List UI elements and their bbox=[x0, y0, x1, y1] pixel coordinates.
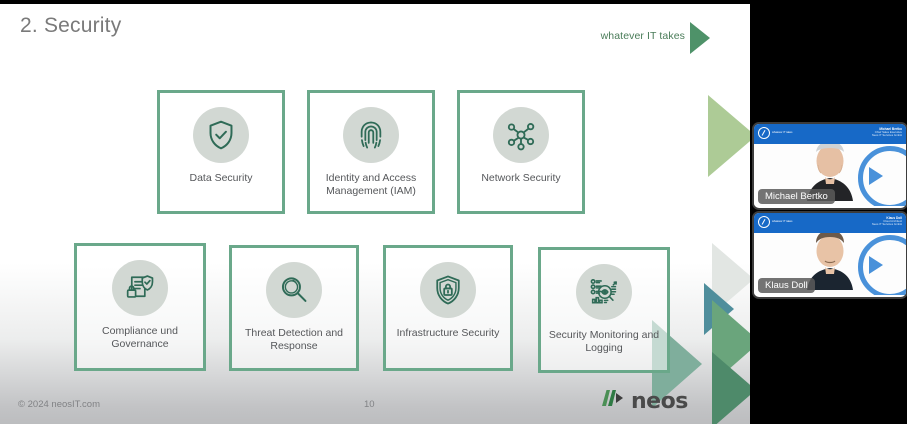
card-label: Identity and Access Management (IAM) bbox=[310, 172, 432, 198]
card-data-security: Data Security bbox=[157, 90, 285, 214]
decorative-chevron-icon bbox=[708, 95, 750, 177]
decorative-chevron-icon bbox=[712, 352, 750, 424]
icon-bubble bbox=[112, 260, 168, 316]
page-title: 2. Security bbox=[20, 14, 121, 38]
presentation-slide: 2. Security whatever IT takes Data Secur… bbox=[0, 0, 750, 424]
icon-bubble bbox=[266, 262, 322, 318]
card-label: Threat Detection and Response bbox=[232, 327, 356, 353]
icon-bubble bbox=[343, 107, 399, 163]
card-identity-access-management: Identity and Access Management (IAM) bbox=[307, 90, 435, 214]
video-banner: whatever IT takes Klaus Doll Cloud Archi… bbox=[754, 213, 906, 233]
card-network-security: Network Security bbox=[457, 90, 585, 214]
icon-bubble bbox=[493, 107, 549, 163]
card-label: Network Security bbox=[475, 172, 566, 185]
icon-bubble bbox=[193, 107, 249, 163]
banner-unit: Neos IT Services GmbH bbox=[872, 223, 902, 226]
icon-bubble bbox=[576, 264, 632, 320]
card-threat-detection-response: Threat Detection and Response bbox=[229, 245, 359, 371]
card-security-monitoring-logging: Security Monitoring and Logging bbox=[538, 247, 670, 373]
banner-brand: whatever IT takes bbox=[772, 131, 792, 134]
magnifier-icon bbox=[277, 273, 311, 307]
card-label: Data Security bbox=[183, 172, 258, 185]
participant-name-label: Klaus Doll bbox=[758, 278, 815, 293]
slide-top-bar bbox=[0, 0, 750, 4]
card-compliance-governance: Compliance und Governance bbox=[74, 243, 206, 371]
video-tile-klaus-doll[interactable]: whatever IT takes Klaus Doll Cloud Archi… bbox=[752, 211, 907, 299]
monitoring-eye-chart-icon bbox=[587, 275, 621, 309]
card-label: Security Monitoring and Logging bbox=[541, 329, 667, 355]
shield-check-icon bbox=[204, 118, 238, 152]
compass-icon bbox=[758, 127, 770, 139]
network-nodes-icon bbox=[504, 118, 538, 152]
document-lock-shield-icon bbox=[123, 271, 157, 305]
banner-unit: Neos IT Services GmbH bbox=[872, 134, 902, 137]
screen: 2. Security whatever IT takes Data Secur… bbox=[0, 0, 907, 424]
card-label: Infrastructure Security bbox=[391, 327, 506, 340]
banner-identity: Michael Bertko Chief Sales Executive Neo… bbox=[872, 127, 902, 138]
compass-icon bbox=[758, 216, 770, 228]
neos-wordmark: neos bbox=[631, 389, 688, 414]
banner-logo: whatever IT takes bbox=[758, 216, 792, 228]
banner-identity: Klaus Doll Cloud Architect Neos IT Servi… bbox=[872, 216, 902, 227]
banner-logo: whatever IT takes bbox=[758, 127, 792, 139]
card-label: Compliance und Governance bbox=[77, 325, 203, 351]
card-infrastructure-security: Infrastructure Security bbox=[383, 245, 513, 371]
fingerprint-icon bbox=[354, 118, 388, 152]
icon-bubble bbox=[420, 262, 476, 318]
page-number: 10 bbox=[364, 399, 375, 410]
neos-logo: neos bbox=[600, 387, 688, 416]
video-tile-michael-bertko[interactable]: whatever IT takes Michael Bertko Chief S… bbox=[752, 122, 907, 210]
neos-leaf-icon bbox=[600, 387, 626, 416]
participant-name-label: Michael Bertko bbox=[758, 189, 835, 204]
tagline: whatever IT takes bbox=[601, 30, 685, 42]
video-participants-panel: whatever IT takes Michael Bertko Chief S… bbox=[750, 0, 907, 424]
video-banner: whatever IT takes Michael Bertko Chief S… bbox=[754, 124, 906, 144]
shield-lock-icon bbox=[431, 273, 465, 307]
copyright-text: © 2024 neosIT.com bbox=[18, 399, 100, 410]
tagline-chevron-icon bbox=[690, 22, 710, 54]
banner-brand: whatever IT takes bbox=[772, 220, 792, 223]
